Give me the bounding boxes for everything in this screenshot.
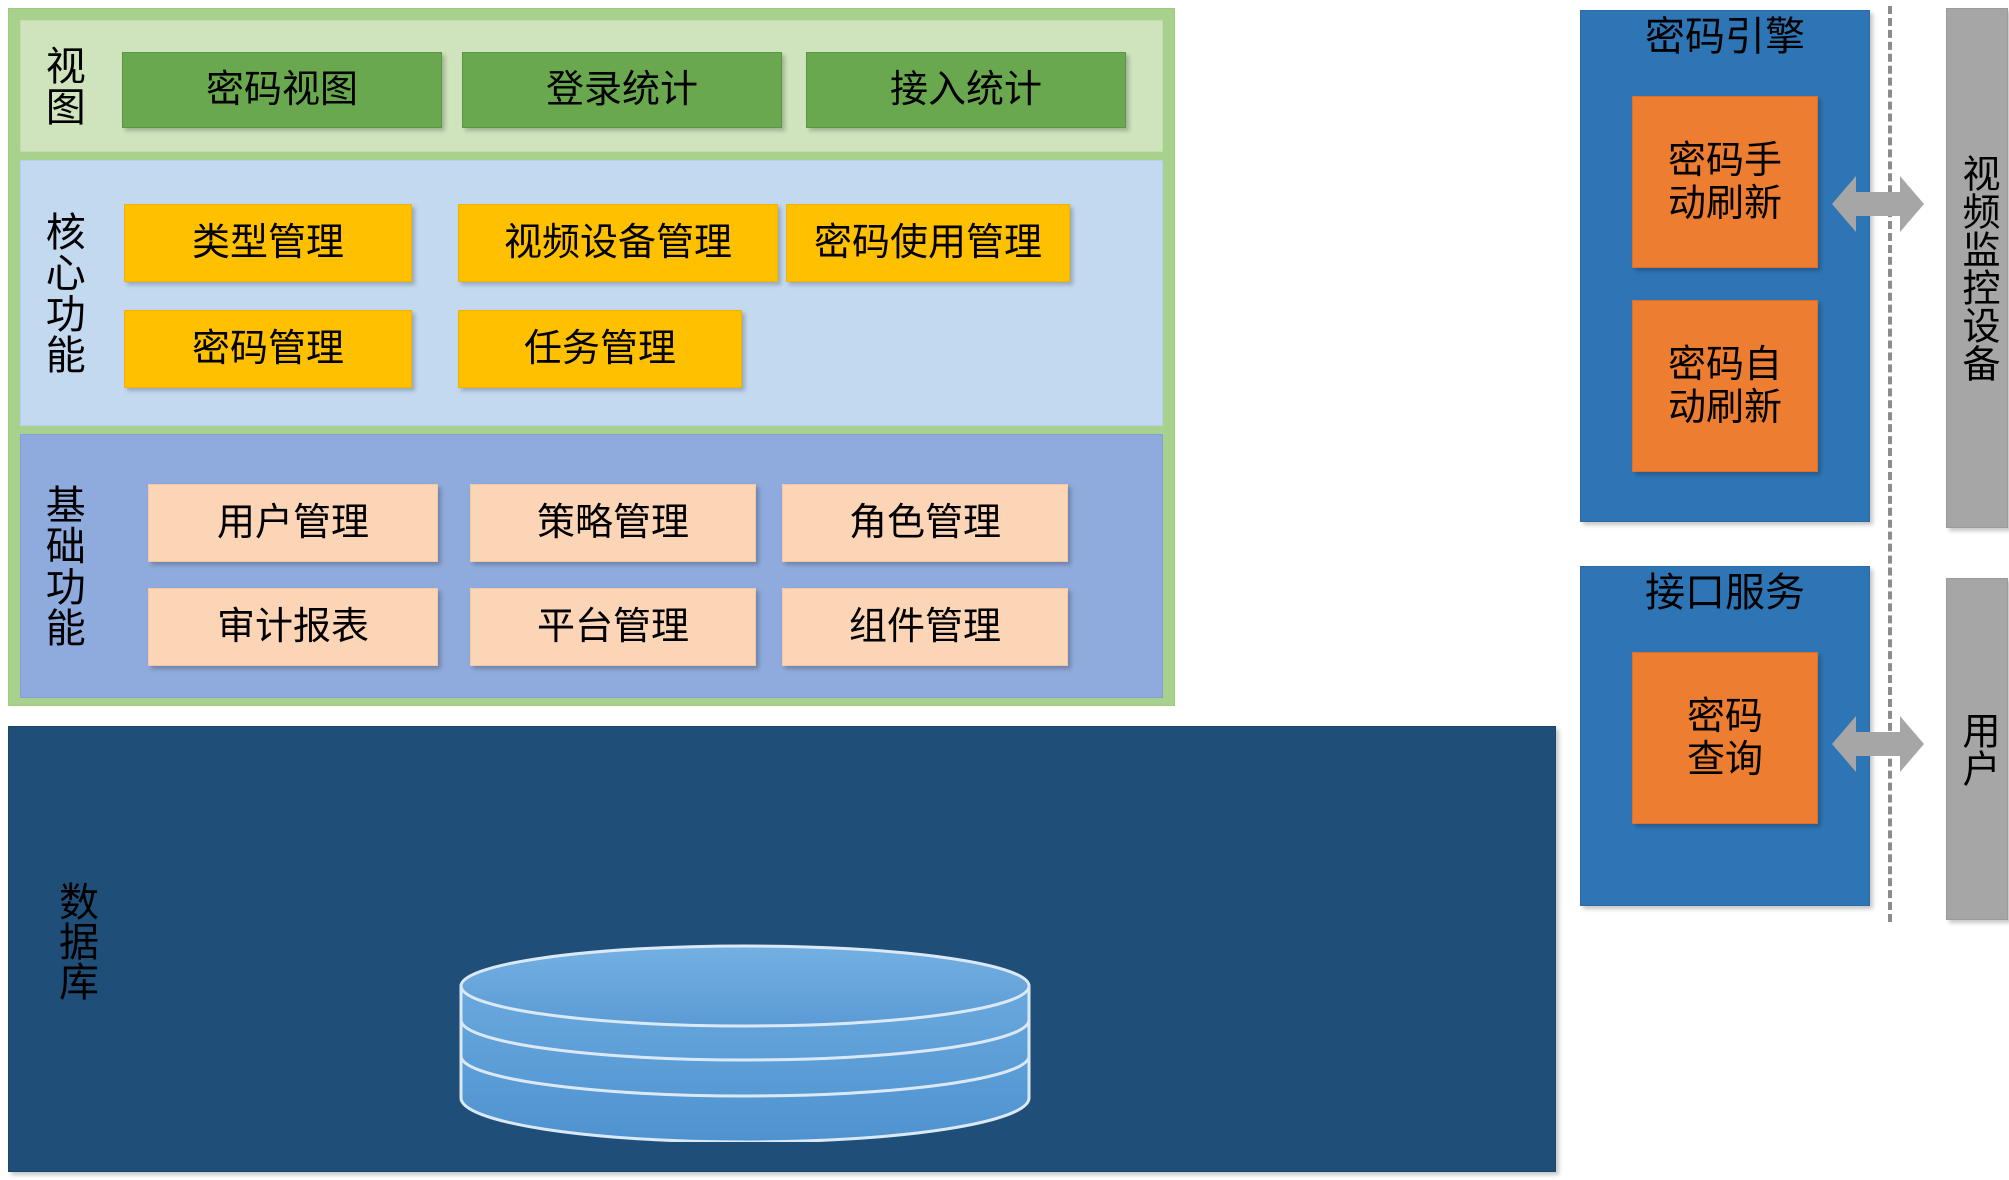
base-button-policy-management[interactable]: 策略管理 — [470, 484, 756, 562]
base-function-layer-caption: 基础功能 — [26, 456, 96, 676]
external-user-box: 用户 — [1946, 578, 2008, 920]
core-function-layer-caption: 核心功能 — [26, 182, 96, 404]
database-caption: 数据库 — [24, 756, 96, 1126]
core-button-video-device-management[interactable]: 视频设备管理 — [458, 204, 778, 282]
interface-button-password-query[interactable]: 密码 查询 — [1632, 652, 1818, 824]
engine-button-auto-refresh-line1: 密码自 — [1668, 343, 1782, 386]
engine-button-auto-refresh[interactable]: 密码自 动刷新 — [1632, 300, 1818, 472]
external-user-label: 用户 — [1947, 579, 2007, 919]
core-button-task-management[interactable]: 任务管理 — [458, 310, 742, 388]
engine-button-manual-refresh-line1: 密码手 — [1668, 139, 1782, 182]
core-button-password-usage-management[interactable]: 密码使用管理 — [786, 204, 1070, 282]
base-button-platform-management[interactable]: 平台管理 — [470, 588, 756, 666]
interface-button-password-query-line1: 密码 — [1687, 695, 1763, 738]
view-button-access-stats[interactable]: 接入统计 — [806, 52, 1126, 128]
database-cylinder-icon — [455, 942, 1035, 1142]
core-button-type-management[interactable]: 类型管理 — [124, 204, 412, 282]
engine-button-manual-refresh[interactable]: 密码手 动刷新 — [1632, 96, 1818, 268]
interface-to-user-arrow-icon — [1830, 700, 1926, 788]
external-video-device-label: 视频监控设备 — [1947, 9, 2007, 527]
engine-button-auto-refresh-line2: 动刷新 — [1668, 386, 1782, 429]
view-layer-caption: 视图 — [26, 26, 96, 146]
interface-service-title: 接口服务 — [1580, 572, 1870, 614]
base-button-component-management[interactable]: 组件管理 — [782, 588, 1068, 666]
password-engine-title: 密码引擎 — [1580, 16, 1870, 58]
base-button-audit-report[interactable]: 审计报表 — [148, 588, 438, 666]
view-button-login-stats[interactable]: 登录统计 — [462, 52, 782, 128]
engine-button-manual-refresh-line2: 动刷新 — [1668, 182, 1782, 225]
core-button-password-management[interactable]: 密码管理 — [124, 310, 412, 388]
interface-button-password-query-line2: 查询 — [1687, 738, 1763, 781]
view-button-password-view[interactable]: 密码视图 — [122, 52, 442, 128]
base-button-user-management[interactable]: 用户管理 — [148, 484, 438, 562]
external-video-device-box: 视频监控设备 — [1946, 8, 2008, 528]
engine-to-video-device-arrow-icon — [1830, 160, 1926, 248]
base-button-role-management[interactable]: 角色管理 — [782, 484, 1068, 562]
